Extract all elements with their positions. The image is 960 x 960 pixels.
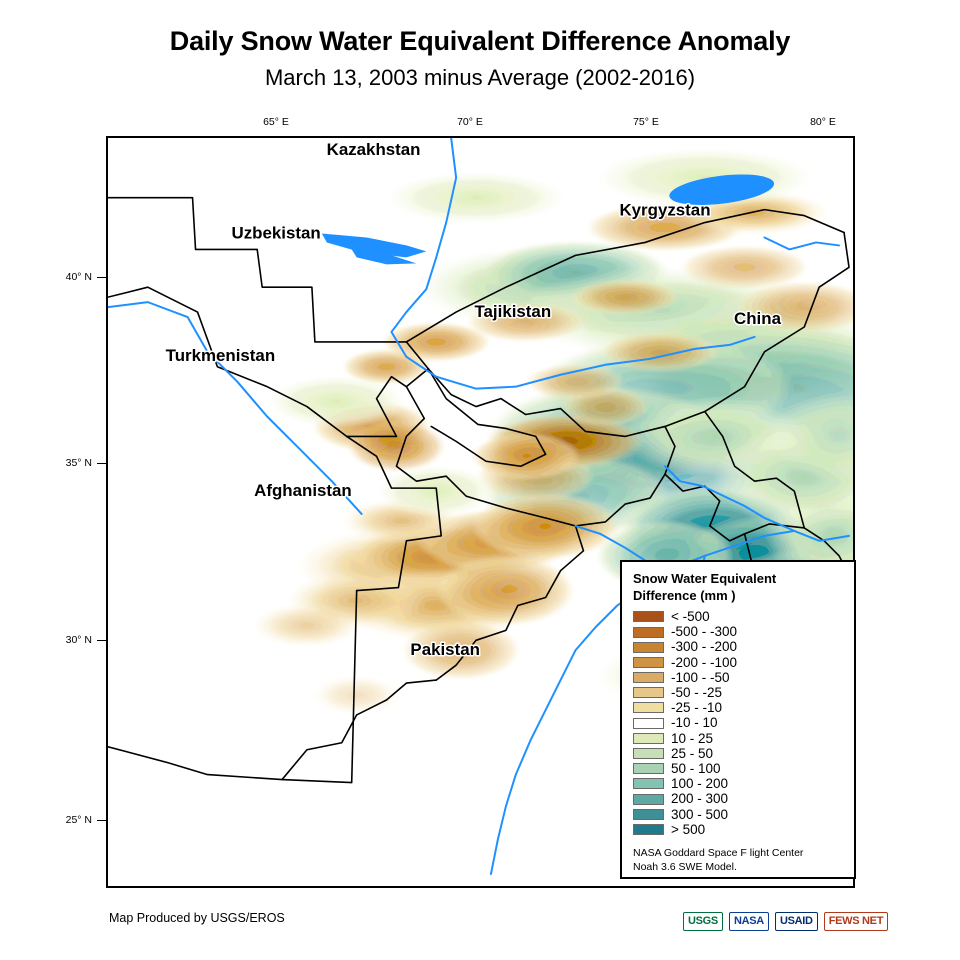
legend-swatch-8 — [633, 733, 664, 744]
lat-tick-label-0: 40° N — [66, 271, 92, 283]
page-title: Daily Snow Water Equivalent Difference A… — [0, 27, 960, 57]
legend-swatch-13 — [633, 809, 664, 820]
legend-swatch-3 — [633, 657, 664, 668]
nasa-logo[interactable]: NASA — [729, 912, 769, 931]
country-label-uzbekistan: Uzbekistan — [232, 223, 321, 242]
usgs-logo[interactable]: USGS — [683, 912, 723, 931]
legend-swatch-5 — [633, 687, 664, 698]
legend-row-3[interactable]: -200 - -100 — [633, 655, 854, 670]
title-block: Daily Snow Water Equivalent Difference A… — [0, 0, 960, 90]
legend-swatch-1 — [633, 627, 664, 638]
legend-row-1[interactable]: -500 - -300 — [633, 624, 854, 639]
lon-tick-label-0: 65° E — [263, 116, 289, 128]
legend-row-9[interactable]: 25 - 50 — [633, 746, 854, 761]
legend-row-13[interactable]: 300 - 500 — [633, 807, 854, 822]
legend-source-note: NASA Goddard Space F light Center Noah 3… — [633, 846, 848, 874]
legend-label-1: -500 - -300 — [671, 625, 737, 639]
legend-swatch-6 — [633, 702, 664, 713]
legend-label-6: -25 - -10 — [671, 701, 722, 715]
page-subtitle: March 13, 2003 minus Average (2002-2016) — [0, 66, 960, 90]
legend-title: Snow Water Equivalent Difference (mm ) — [633, 571, 843, 604]
country-label-kyrgyzstan: Kyrgyzstan — [619, 201, 710, 220]
lat-tick-1 — [97, 463, 106, 464]
legend-class-list: < -500-500 - -300-300 - -200-200 - -100-… — [633, 609, 854, 837]
legend-swatch-0 — [633, 611, 664, 622]
legend-row-10[interactable]: 50 - 100 — [633, 761, 854, 776]
legend-label-12: 200 - 300 — [671, 792, 728, 806]
lat-tick-0 — [97, 277, 106, 278]
legend-swatch-11 — [633, 778, 664, 789]
country-label-china: China — [734, 309, 782, 328]
legend-label-4: -100 - -50 — [671, 671, 730, 685]
legend-row-14[interactable]: > 500 — [633, 822, 854, 837]
country-label-tajikistan: Tajikistan — [474, 302, 551, 321]
footer-credit: Map Produced by USGS/EROS — [109, 911, 285, 925]
legend-source-line2: Noah 3.6 SWE Model. — [633, 860, 848, 874]
legend-panel[interactable]: Snow Water Equivalent Difference (mm ) <… — [620, 560, 856, 879]
legend-label-10: 50 - 100 — [671, 762, 721, 776]
legend-label-7: -10 - 10 — [671, 716, 718, 730]
legend-swatch-4 — [633, 672, 664, 683]
legend-row-0[interactable]: < -500 — [633, 609, 854, 624]
legend-swatch-10 — [633, 763, 664, 774]
legend-label-11: 100 - 200 — [671, 777, 728, 791]
legend-source-line1: NASA Goddard Space F light Center — [633, 846, 848, 860]
country-label-turkmenistan: Turkmenistan — [166, 346, 275, 365]
legend-label-9: 25 - 50 — [671, 747, 713, 761]
legend-label-14: > 500 — [671, 823, 705, 837]
lat-tick-2 — [97, 640, 106, 641]
usaid-logo[interactable]: USAID — [775, 912, 818, 931]
legend-label-13: 300 - 500 — [671, 808, 728, 822]
logo-strip: USGSNASAUSAIDFEWS NET — [683, 908, 888, 934]
legend-row-5[interactable]: -50 - -25 — [633, 685, 854, 700]
country-label-pakistan: Pakistan — [410, 640, 479, 659]
legend-label-3: -200 - -100 — [671, 656, 737, 670]
lon-tick-label-3: 80° E — [810, 116, 836, 128]
lon-tick-label-2: 75° E — [633, 116, 659, 128]
legend-swatch-12 — [633, 794, 664, 805]
country-label-afghanistan: Afghanistan — [254, 481, 352, 500]
legend-label-8: 10 - 25 — [671, 732, 713, 746]
legend-row-11[interactable]: 100 - 200 — [633, 776, 854, 791]
lat-tick-label-2: 30° N — [66, 634, 92, 646]
legend-row-7[interactable]: -10 - 10 — [633, 716, 854, 731]
legend-swatch-9 — [633, 748, 664, 759]
legend-label-0: < -500 — [671, 610, 710, 624]
lat-tick-label-1: 35° N — [66, 457, 92, 469]
legend-row-4[interactable]: -100 - -50 — [633, 670, 854, 685]
fewsnet-logo[interactable]: FEWS NET — [824, 912, 888, 931]
legend-row-2[interactable]: -300 - -200 — [633, 640, 854, 655]
legend-swatch-7 — [633, 718, 664, 729]
lat-tick-3 — [97, 820, 106, 821]
legend-label-5: -50 - -25 — [671, 686, 722, 700]
legend-label-2: -300 - -200 — [671, 640, 737, 654]
lon-tick-label-1: 70° E — [457, 116, 483, 128]
legend-row-8[interactable]: 10 - 25 — [633, 731, 854, 746]
legend-row-6[interactable]: -25 - -10 — [633, 700, 854, 715]
legend-swatch-14 — [633, 824, 664, 835]
lat-tick-label-3: 25° N — [66, 814, 92, 826]
legend-row-12[interactable]: 200 - 300 — [633, 792, 854, 807]
country-label-kazakhstan: Kazakhstan — [327, 140, 421, 159]
legend-swatch-2 — [633, 642, 664, 653]
